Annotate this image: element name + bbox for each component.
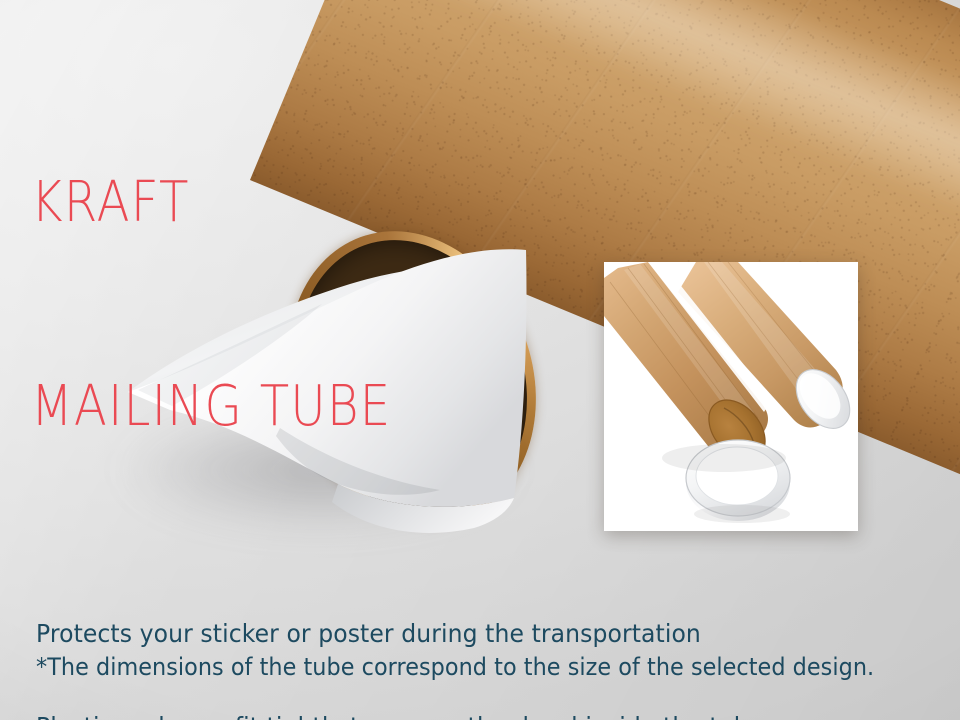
page-title: KRAFT MAILING TUBE <box>31 33 392 577</box>
body-line-2: Plastic end caps fit tightly to secure t… <box>36 711 763 720</box>
poster-canvas: KRAFT MAILING TUBE Protects your sticker… <box>0 0 960 720</box>
headline-line-2: MAILING TUBE <box>31 373 392 441</box>
body-line-1: Protects your sticker or poster during t… <box>36 618 763 649</box>
body-copy: Protects your sticker or poster during t… <box>36 556 763 720</box>
footnote-text: *The dimensions of the tube correspond t… <box>36 652 874 682</box>
headline-line-1: KRAFT <box>31 169 392 237</box>
